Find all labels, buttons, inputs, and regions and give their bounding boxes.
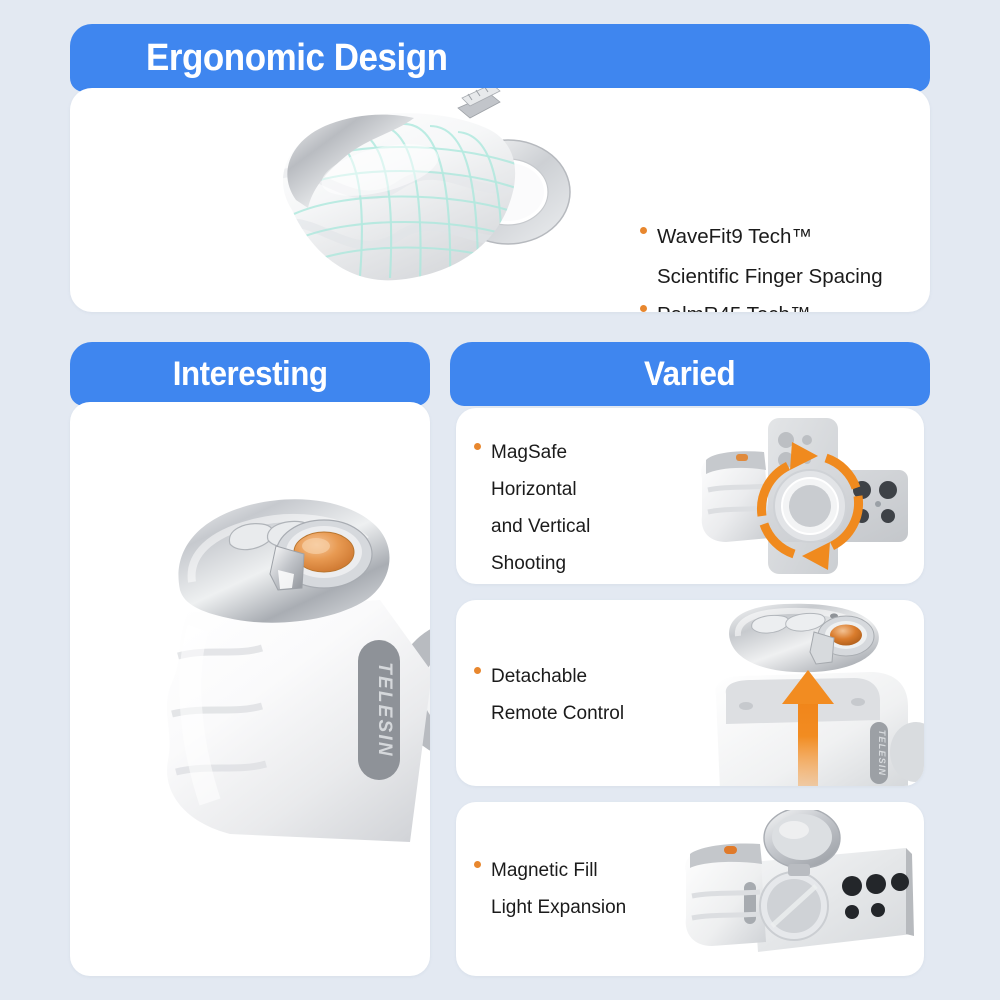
fill-light-text-block: Magnetic Fill Light Expansion: [474, 852, 689, 926]
product-image-ergonomic-grip: [200, 88, 600, 312]
panel-header-varied: Varied: [450, 342, 930, 406]
varied-card-remote: Detachable Remote Control TELESIN: [456, 600, 924, 786]
ergonomic-bullet-list: WaveFit9 Tech™ Scientific Finger Spacing…: [640, 218, 930, 312]
product-image-magsafe-rotation: [692, 412, 912, 582]
bullet-label: Magnetic Fill Light Expansion: [481, 852, 626, 926]
list-item: WaveFit9 Tech™: [640, 218, 930, 256]
list-item: Magnetic Fill Light Expansion: [474, 852, 689, 926]
bullet-subline: Scientific Finger Spacing: [640, 258, 930, 296]
bullet-label: PalmR45 Tech™: [647, 296, 810, 312]
panel-title-varied: Varied: [644, 355, 735, 394]
bullet-dot-icon: [640, 305, 647, 312]
bullet-label: WaveFit9 Tech™: [647, 218, 812, 256]
product-image-detachable-remote: TELESIN: [694, 600, 924, 786]
list-item: MagSafe Horizontal and Vertical Shooting: [474, 434, 664, 582]
fill-light-hinge: [788, 864, 810, 876]
list-item: PalmR45 Tech™: [640, 296, 930, 312]
control-head: [178, 499, 389, 622]
magsafe-puck: [760, 872, 828, 940]
product-image-interesting-grip: TELESIN: [80, 442, 430, 842]
top-screw-mount-icon: [458, 88, 500, 118]
magsafe-text-block: MagSafe Horizontal and Vertical Shooting: [474, 434, 664, 582]
camera-grip-small: [685, 843, 766, 946]
bullet-label: Detachable Remote Control: [481, 658, 624, 732]
varied-card-fill-light: Magnetic Fill Light Expansion: [456, 802, 924, 976]
bullet-dot-icon: [474, 443, 481, 450]
remote-mode-lever: [810, 632, 834, 664]
panel-body-interesting: TELESIN: [70, 402, 430, 976]
brand-label-telesin: TELESIN: [358, 640, 400, 780]
grip-shutter-icon: [724, 846, 737, 854]
mode-switch-button: [270, 546, 304, 590]
detachable-remote-module: [729, 604, 879, 673]
bullet-dot-icon: [474, 667, 481, 674]
panel-header-interesting: Interesting: [70, 342, 430, 406]
varied-card-magsafe: MagSafe Horizontal and Vertical Shooting: [456, 408, 924, 584]
panel-header-ergonomic: Ergonomic Design: [70, 24, 930, 92]
magsafe-ring-center-icon: [774, 470, 846, 542]
panel-title-interesting: Interesting: [173, 355, 328, 394]
panel-body-ergonomic: WaveFit9 Tech™ Scientific Finger Spacing…: [70, 88, 930, 312]
page-title: Ergonomic Design: [146, 37, 448, 80]
panel-interesting: Interesting: [70, 342, 430, 976]
bullet-dot-icon: [474, 861, 481, 868]
bullet-dot-icon: [640, 227, 647, 234]
list-item: Detachable Remote Control: [474, 658, 684, 732]
bullet-label: MagSafe Horizontal and Vertical Shooting: [481, 434, 590, 582]
svg-text:TELESIN: TELESIN: [374, 662, 395, 758]
product-image-magnetic-fill-light: [674, 810, 914, 970]
svg-text:TELESIN: TELESIN: [877, 730, 887, 776]
remote-text-block: Detachable Remote Control: [474, 658, 684, 732]
panel-ergonomic-design: Ergonomic Design: [70, 24, 930, 312]
